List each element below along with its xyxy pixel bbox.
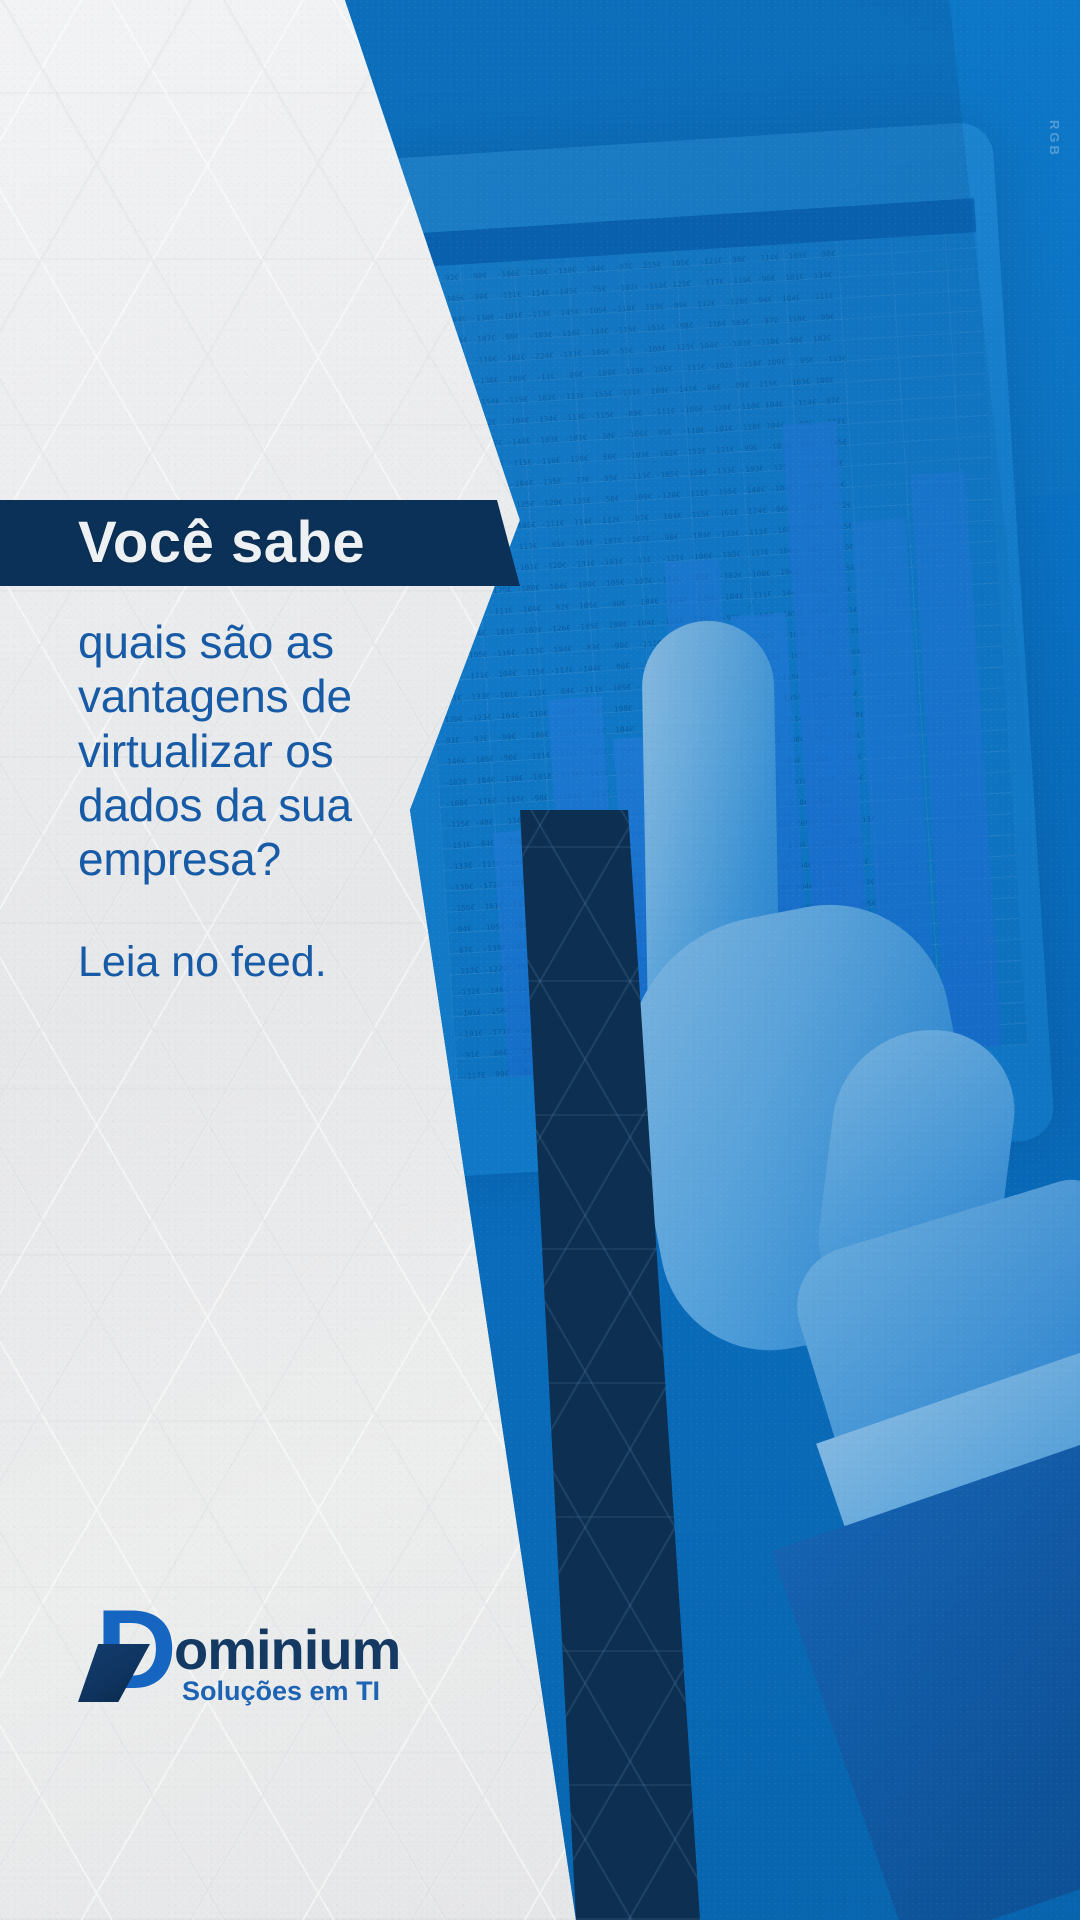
headline-banner: Você sabe (0, 500, 560, 586)
body-line-3: virtualizar os (78, 724, 418, 778)
headline-text: Você sabe (78, 514, 365, 572)
body-copy: quais são as vantagens de virtualizar os… (78, 615, 418, 988)
body-line-2: vantagens de (78, 669, 418, 723)
logo-wordmark: ominium (174, 1622, 400, 1678)
dominium-logo: D ominium Soluções em TI (78, 1608, 398, 1718)
body-line-5: empresa? (78, 832, 418, 886)
story-canvas: -93€ -92€ -90€ -106€ -136€ -118€ 104€ -9… (0, 0, 1080, 1920)
body-line-1: quais são as (78, 615, 418, 669)
body-copy-lines: quais são as vantagens de virtualizar os… (78, 615, 418, 886)
rgb-watermark: RGB (1047, 120, 1062, 158)
logo-tagline: Soluções em TI (182, 1678, 380, 1705)
body-line-4: dados da sua (78, 778, 418, 832)
call-to-action-text: Leia no feed. (78, 938, 418, 987)
